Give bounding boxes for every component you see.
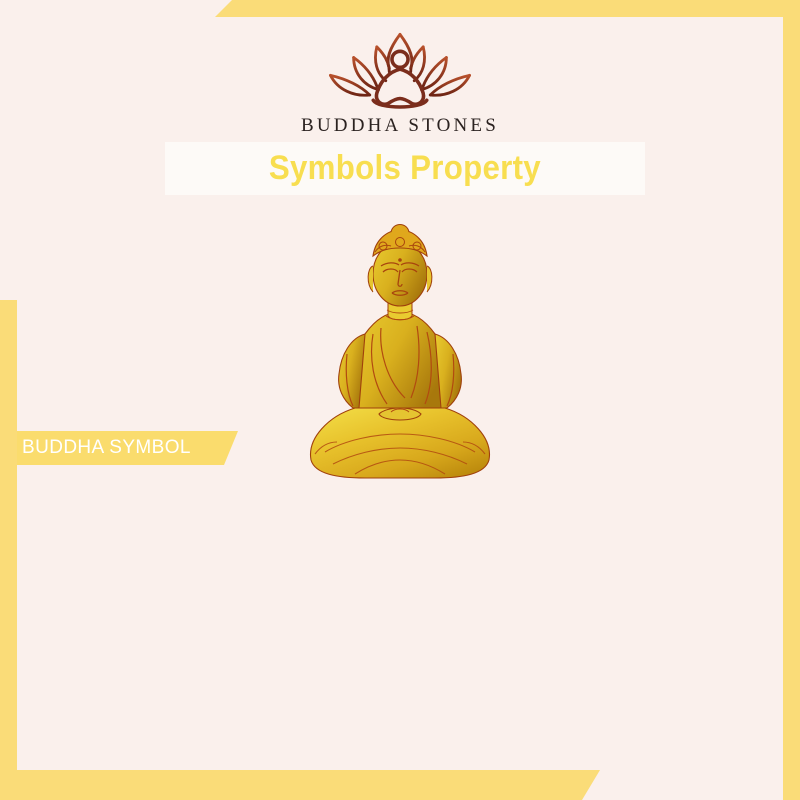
brand-name: BUDDHA STONES <box>301 115 499 137</box>
seated-buddha-statue-icon <box>295 202 505 492</box>
page-canvas: BUDDHA STONES Symbols Property <box>17 17 783 783</box>
title-banner: Symbols Property <box>165 142 645 195</box>
lotus-meditation-icon <box>310 29 490 111</box>
buddha-symbol-tag: BUDDHA SYMBOL <box>0 431 238 465</box>
frame-top-bar <box>215 0 800 17</box>
frame-bottom-bar <box>0 770 600 800</box>
frame-right-bar <box>783 0 800 800</box>
buddha-symbol-tag-label: BUDDHA SYMBOL <box>0 437 191 459</box>
frame-left-mask <box>0 0 17 300</box>
page-title: Symbols Property <box>269 149 541 188</box>
brand-logo: BUDDHA STONES <box>17 17 783 137</box>
